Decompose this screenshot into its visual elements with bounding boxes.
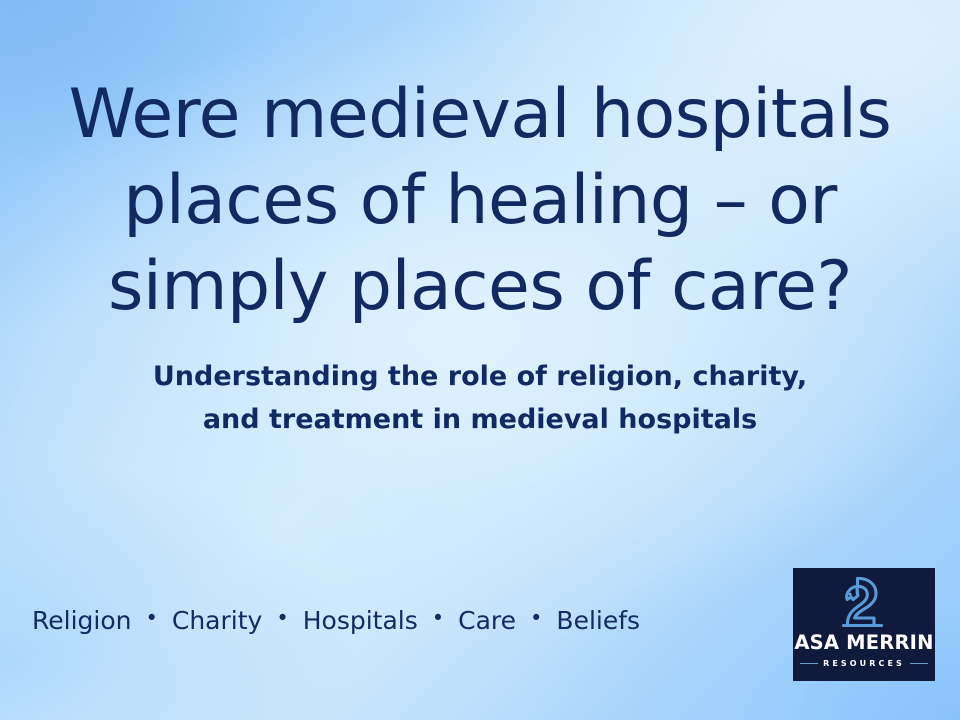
brand-logo: ASA MERRIN RESOURCES [793,568,935,681]
logo-wordmark: ASA MERRIN [794,633,933,653]
slide-content: Were medieval hospitals places of healin… [0,0,960,720]
logo-rule-left [800,663,818,664]
keyword-separator-bullet-icon: • [432,608,444,629]
slide-subtitle: Understanding the role of religion, char… [60,356,900,441]
keyword-item: Religion [32,608,131,633]
knight-chess-piece-icon [837,573,891,631]
keyword-item: Charity [172,608,262,633]
logo-rule-right [910,663,928,664]
logo-tagline-row: RESOURCES [800,660,928,668]
slide-title: Were medieval hospitals places of healin… [24,72,936,331]
logo-tagline: RESOURCES [818,660,910,668]
keyword-item: Care [458,608,516,633]
presentation-slide: Were medieval hospitals places of healin… [0,0,960,720]
keyword-item: Beliefs [556,608,640,633]
keyword-item: Hospitals [303,608,418,633]
keyword-separator-bullet-icon: • [530,608,542,629]
keyword-separator-bullet-icon: • [145,608,157,629]
keyword-separator-bullet-icon: • [276,608,288,629]
keyword-list: Religion•Charity•Hospitals•Care•Beliefs [32,608,640,633]
